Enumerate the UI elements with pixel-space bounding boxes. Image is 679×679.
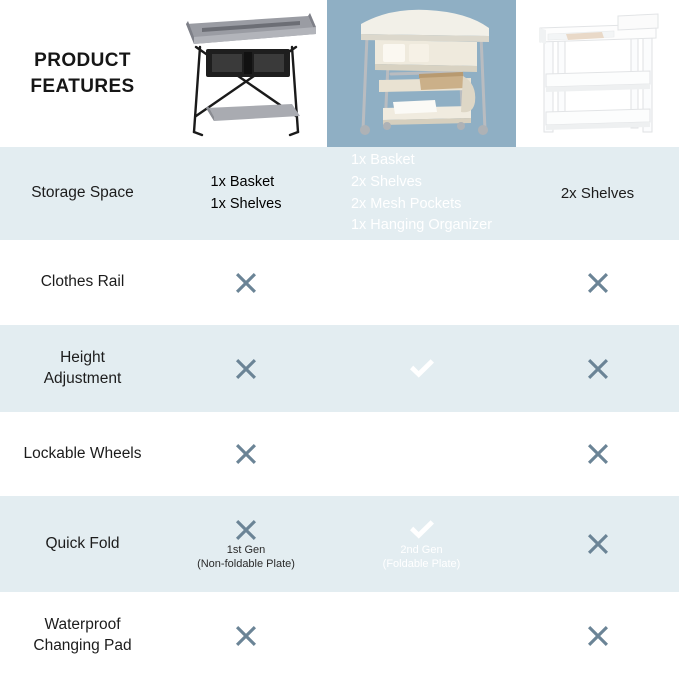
product-2-cell-highlighted: 2nd Gen(Foldable Plate) (327, 496, 516, 592)
check-icon (407, 356, 437, 382)
table-row: Storage Space1x Basket1x Shelves1x Baske… (0, 147, 679, 240)
cross-icon (585, 356, 611, 382)
feature-label-line-2: Changing Pad (33, 636, 131, 656)
table-header: PRODUCT FEATURES (0, 0, 679, 147)
check-icon (407, 441, 437, 467)
col1-value-item: 1x Basket (211, 172, 282, 194)
feature-label: Quick Fold (45, 534, 119, 554)
feature-label-cell: Clothes Rail (0, 240, 165, 325)
cross-icon (233, 517, 259, 543)
cross-icon (233, 623, 259, 649)
feature-label-cell: Storage Space (0, 147, 165, 240)
feature-label: Lockable Wheels (23, 444, 141, 464)
col2-value-list: 1x Basket2x Shelves2x Mesh Pockets1x Han… (351, 150, 492, 237)
feature-label-cell: Quick Fold (0, 496, 165, 592)
feature-label-line-1: Height (44, 348, 122, 368)
product-1-cell: 1st Gen(Non-foldable Plate) (165, 496, 327, 592)
product-3-cell (516, 325, 679, 412)
col2-note-line-2: (Foldable Plate) (383, 558, 461, 572)
cross-icon (233, 270, 259, 296)
cross-icon (585, 531, 611, 557)
col1-note: 1st Gen(Non-foldable Plate) (197, 544, 295, 572)
cross-icon (585, 623, 611, 649)
page-title: PRODUCT FEATURES (0, 0, 165, 147)
table-row: Lockable Wheels (0, 412, 679, 496)
col2-value-item: 2x Shelves (351, 172, 492, 194)
product-1-cell (165, 592, 327, 679)
col2-value-item: 1x Hanging Organizer (351, 215, 492, 237)
col3-value-text: 2x Shelves (561, 182, 634, 205)
cross-icon (585, 441, 611, 467)
feature-label-cell: Lockable Wheels (0, 412, 165, 496)
feature-label-line-2: Adjustment (44, 369, 122, 389)
feature-label: Clothes Rail (41, 272, 125, 292)
table-row: Clothes Rail (0, 240, 679, 325)
col2-value-item: 2x Mesh Pockets (351, 194, 492, 216)
product-3-cell (516, 496, 679, 592)
product-image-highlighted-changing-table (331, 2, 512, 145)
col1-note-line-2: (Non-foldable Plate) (197, 558, 295, 572)
feature-label: WaterproofChanging Pad (33, 615, 131, 655)
feature-label-line-1: Waterproof (33, 615, 131, 635)
product-3-cell: 2x Shelves (516, 147, 679, 240)
page-title-line-2: FEATURES (30, 74, 134, 100)
feature-label-cell: WaterproofChanging Pad (0, 592, 165, 679)
product-2-cell-highlighted (327, 325, 516, 412)
product-2-cell-highlighted: 1x Basket2x Shelves2x Mesh Pockets1x Han… (327, 147, 516, 240)
product-1-cell (165, 325, 327, 412)
col1-value-list: 1x Basket1x Shelves (211, 172, 282, 216)
product-1-cell (165, 240, 327, 325)
product-2-cell-highlighted (327, 592, 516, 679)
product-2-cell-highlighted (327, 240, 516, 325)
col2-note-line-1: 2nd Gen (383, 544, 461, 558)
check-icon (407, 517, 437, 543)
check-icon (407, 270, 437, 296)
product-1-cell: 1x Basket1x Shelves (165, 147, 327, 240)
feature-label-cell: HeightAdjustment (0, 325, 165, 412)
feature-label: Storage Space (31, 183, 134, 203)
col2-note: 2nd Gen(Foldable Plate) (383, 544, 461, 572)
col1-value-item: 1x Shelves (211, 194, 282, 216)
feature-label: HeightAdjustment (44, 348, 122, 388)
col2-value-item: 1x Basket (351, 150, 492, 172)
col1-note-line-1: 1st Gen (197, 544, 295, 558)
table-row: WaterproofChanging Pad (0, 592, 679, 679)
product-features-comparison-table: PRODUCT FEATURES (0, 0, 679, 679)
cross-icon (233, 356, 259, 382)
table-row: Quick Fold1st Gen(Non-foldable Plate)2nd… (0, 496, 679, 592)
product-2-cell-highlighted (327, 412, 516, 496)
check-icon (407, 623, 437, 649)
product-image-white-wooden-changing-table (522, 4, 674, 144)
product-3-cell (516, 592, 679, 679)
cross-icon (585, 270, 611, 296)
product-3-cell (516, 240, 679, 325)
table-row: HeightAdjustment (0, 325, 679, 412)
product-3-cell (516, 412, 679, 496)
cross-icon (233, 441, 259, 467)
product-1-cell (165, 412, 327, 496)
product-image-black-frame-changing-table (172, 4, 322, 144)
page-title-line-1: PRODUCT (30, 48, 134, 74)
